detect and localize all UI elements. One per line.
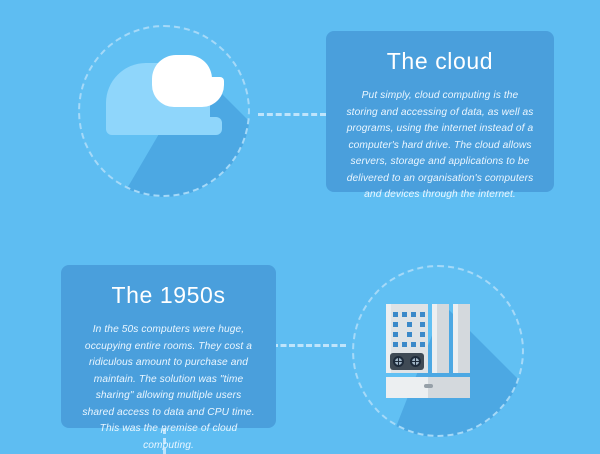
connector-cloud-to-cloudpanel (258, 113, 326, 116)
panel-the-cloud: The cloud Put simply, cloud computing is… (326, 31, 554, 192)
infographic-canvas: The cloud Put simply, cloud computing is… (0, 0, 600, 454)
panel-the-cloud-title: The cloud (346, 49, 534, 74)
cloud-circle-outline (78, 25, 250, 197)
panel-the-cloud-body: Put simply, cloud computing is the stori… (346, 88, 534, 204)
panel-the-1950s-title: The 1950s (81, 283, 256, 308)
connector-1950spanel-to-mainframe (272, 344, 346, 347)
mainframe-circle-outline (352, 265, 524, 437)
panel-the-1950s-body: In the 50s computers were huge, occupyin… (81, 322, 256, 454)
panel-the-1950s: The 1950s In the 50s computers were huge… (61, 265, 276, 428)
